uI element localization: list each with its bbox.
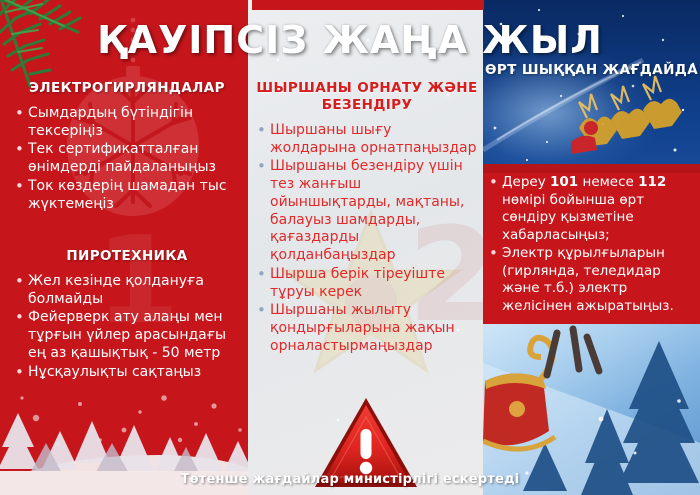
section-garlands-heading: ЭЛЕКТРОГИРЛЯНДАЛАР — [14, 80, 240, 97]
section-fire-list: Дереу 101 немесе 112 нөмірі бойынша өрт … — [488, 174, 698, 315]
section-garlands-list: Сымдардың бүтіндігін тексеріңіз Тек серт… — [14, 105, 240, 214]
section-pyrotechnics-list: Жел кезінде қолдануға болмайды Фейерверк… — [14, 273, 240, 382]
list-item: Шыршаны жылыту қондырғыларына жақын орна… — [256, 302, 478, 355]
footer-note: Төтенше жағдайлар министірлігі ескертеді — [0, 472, 700, 487]
section-fire-case: Дереу 101 немесе 112 нөмірі бойынша өрт … — [488, 174, 698, 316]
section-garlands: ЭЛЕКТРОГИРЛЯНДАЛАР Сымдардың бүтіндігін … — [14, 80, 240, 214]
section-fire-heading-wrap: ӨРТ ШЫҚҚАН ЖАҒДАЙДА — [483, 62, 700, 87]
page-title: ҚАУІПСІЗ ЖАҢА ЖЫЛ — [0, 18, 700, 62]
reindeer-sleigh-icon — [483, 338, 555, 449]
list-item: Сымдардың бүтіндігін тексеріңіз — [14, 105, 240, 141]
section-tree-setup-list: Шыршаны шығу жолдарына орнатпаңыздар Шыр… — [256, 122, 478, 356]
list-item: Шыршаны шығу жолдарына орнатпаңыздар — [256, 122, 478, 158]
section-fire-heading: ӨРТ ШЫҚҚАН ЖАҒДАЙДА — [483, 62, 700, 79]
section-tree-setup-heading: ШЫРШАНЫ ОРНАТУ ЖӘНЕ БЕЗЕНДІРУ — [256, 80, 478, 114]
list-item: Дереу 101 немесе 112 нөмірі бойынша өрт … — [488, 174, 698, 244]
list-item: Шыршаны безендіру үшін тез жанғыш ойыншы… — [256, 158, 478, 265]
left-red-panel: 1 — [0, 0, 252, 495]
section-tree-setup: ШЫРШАНЫ ОРНАТУ ЖӘНЕ БЕЗЕНДІРУ Шыршаны шы… — [256, 80, 478, 357]
list-item: Электр құрылғыларын (гирлянда, теледидар… — [488, 245, 698, 315]
list-item: Тек сертификатталған өнімдерді пайдаланы… — [14, 141, 240, 177]
list-item: Нұсқаулықты сақтаңыз — [14, 364, 240, 382]
section-pyrotechnics: ПИРОТЕХНИКА Жел кезінде қолдануға болмай… — [14, 248, 240, 382]
section-pyrotechnics-heading: ПИРОТЕХНИКА — [14, 248, 240, 265]
title-red-strip — [252, 0, 484, 10]
list-item: Шырша берік тіреуіште тұруы керек — [256, 266, 478, 302]
poster-root: 1 — [0, 0, 700, 495]
list-item: Фейерверк ату алаңы мен тұрғын үйлер ара… — [14, 309, 240, 362]
list-item: Жел кезінде қолдануға болмайды — [14, 273, 240, 309]
fire-box-top-edge — [483, 164, 700, 173]
winter-scene-background — [483, 323, 700, 495]
list-item: Ток көздерің шамадан тыс жүктемеңіз — [14, 178, 240, 214]
